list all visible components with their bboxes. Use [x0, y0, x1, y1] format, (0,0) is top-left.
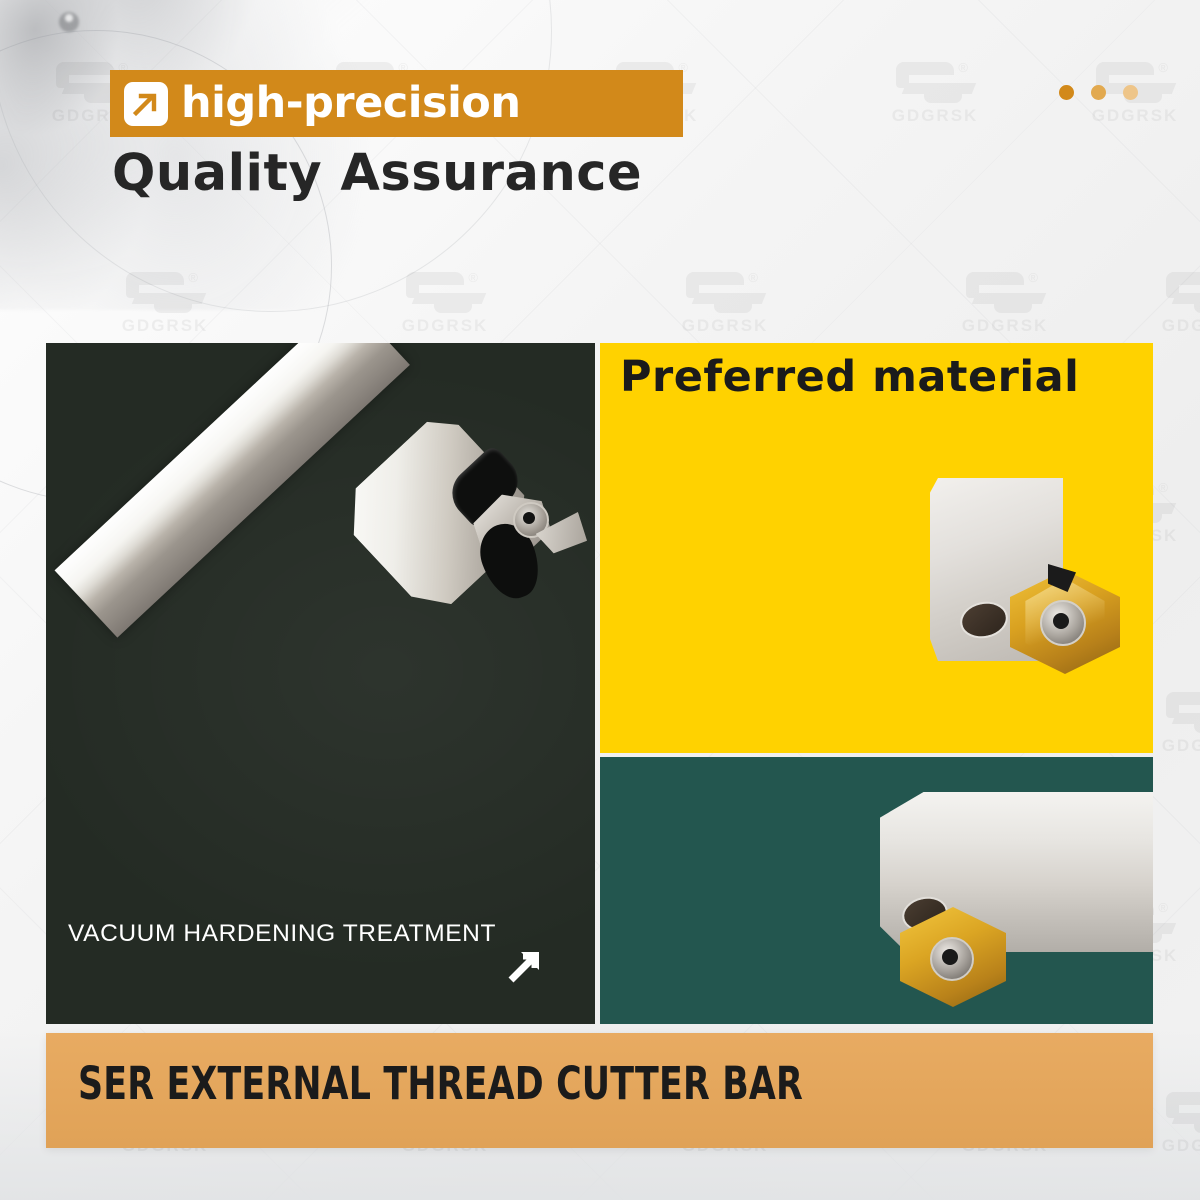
- decorative-dots: [1059, 85, 1138, 100]
- tool-detail-panel: [600, 757, 1153, 1024]
- vacuum-hardening-caption: VACUUM HARDENING TREATMENT: [68, 920, 496, 948]
- torx-screw-yellow: [1040, 600, 1086, 646]
- product-name-text: SER EXTERNAL THREAD CUTTER BAR: [78, 1057, 803, 1110]
- page-title: Quality Assurance: [112, 148, 642, 199]
- arrow-up-right-boxed-icon: [124, 82, 168, 126]
- header-badge: high-precision: [110, 70, 683, 137]
- dot-2: [1091, 85, 1106, 100]
- preferred-material-label: Preferred material: [620, 356, 1079, 399]
- torx-screw-green: [930, 937, 974, 981]
- dot-1: [1059, 85, 1074, 100]
- header-badge-label: high-precision: [181, 82, 520, 125]
- arrow-up-right-icon: [505, 940, 551, 986]
- preferred-material-panel: [600, 343, 1153, 753]
- product-name-banner: SER EXTERNAL THREAD CUTTER BAR: [46, 1033, 1153, 1148]
- poster-canvas: ®GDGRSK®GDGRSK®GDGRSK®GDGRSK®GDGRSK®GDGR…: [0, 0, 1200, 1200]
- dot-3: [1123, 85, 1138, 100]
